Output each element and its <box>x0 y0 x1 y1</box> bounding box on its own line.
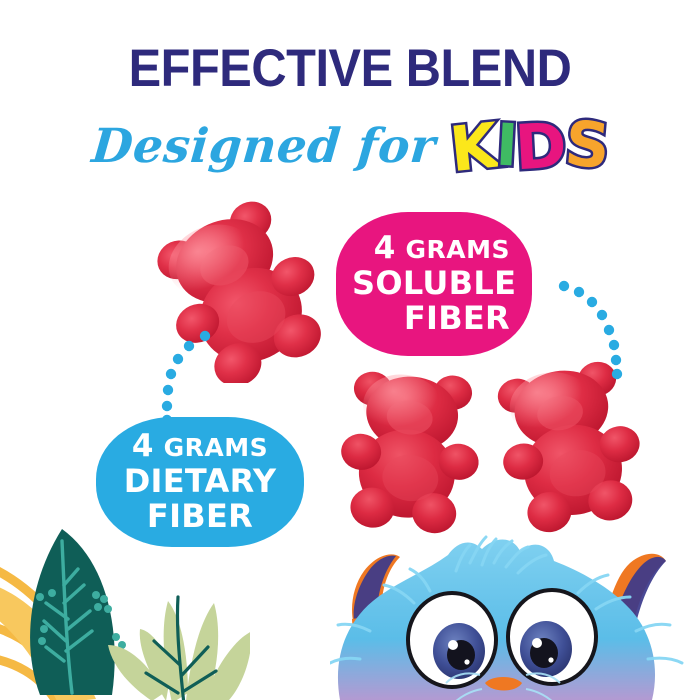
monster-eye-left <box>408 593 496 687</box>
kids-letter-k: K <box>447 115 499 181</box>
badge-soluble-line2: SOLUBLE <box>352 266 510 302</box>
foliage-decoration <box>0 525 250 700</box>
dotted-connector-right <box>548 278 648 388</box>
badge-soluble-line3: FIBER <box>352 301 510 337</box>
badge-soluble-fiber: 4 GRAMS SOLUBLE FIBER <box>336 212 532 356</box>
badge-soluble-unit: GRAMS <box>405 235 510 264</box>
kids-wordmark: K I D S <box>450 115 608 177</box>
badge-soluble-amount: 4 <box>374 230 397 266</box>
badge-soluble-amount-row: 4 GRAMS <box>352 231 510 266</box>
badge-dietary-amount-row: 4 GRAMS <box>110 429 290 464</box>
subtitle-script: Designed for <box>90 123 438 170</box>
badge-dietary-line2: DIETARY <box>110 464 290 500</box>
monster-eye-right <box>508 590 596 684</box>
dotted-connector-left <box>140 330 250 430</box>
gummy-bear-center <box>330 358 495 538</box>
page-title: EFFECTIVE BLEND <box>28 42 672 95</box>
blue-furry-monster <box>330 535 700 700</box>
badge-dietary-amount: 4 <box>132 428 155 464</box>
kids-letter-s: S <box>562 112 610 177</box>
kids-letter-d: D <box>514 115 567 180</box>
gummy-bear-right <box>485 352 655 537</box>
gummy-bear-top-left <box>148 198 338 383</box>
promo-graphic: EFFECTIVE BLEND Designed for K I D S <box>0 0 700 700</box>
subtitle-row: Designed for K I D S <box>0 106 700 186</box>
badge-dietary-unit: GRAMS <box>164 433 269 462</box>
dark-teal-leaf <box>30 529 115 695</box>
